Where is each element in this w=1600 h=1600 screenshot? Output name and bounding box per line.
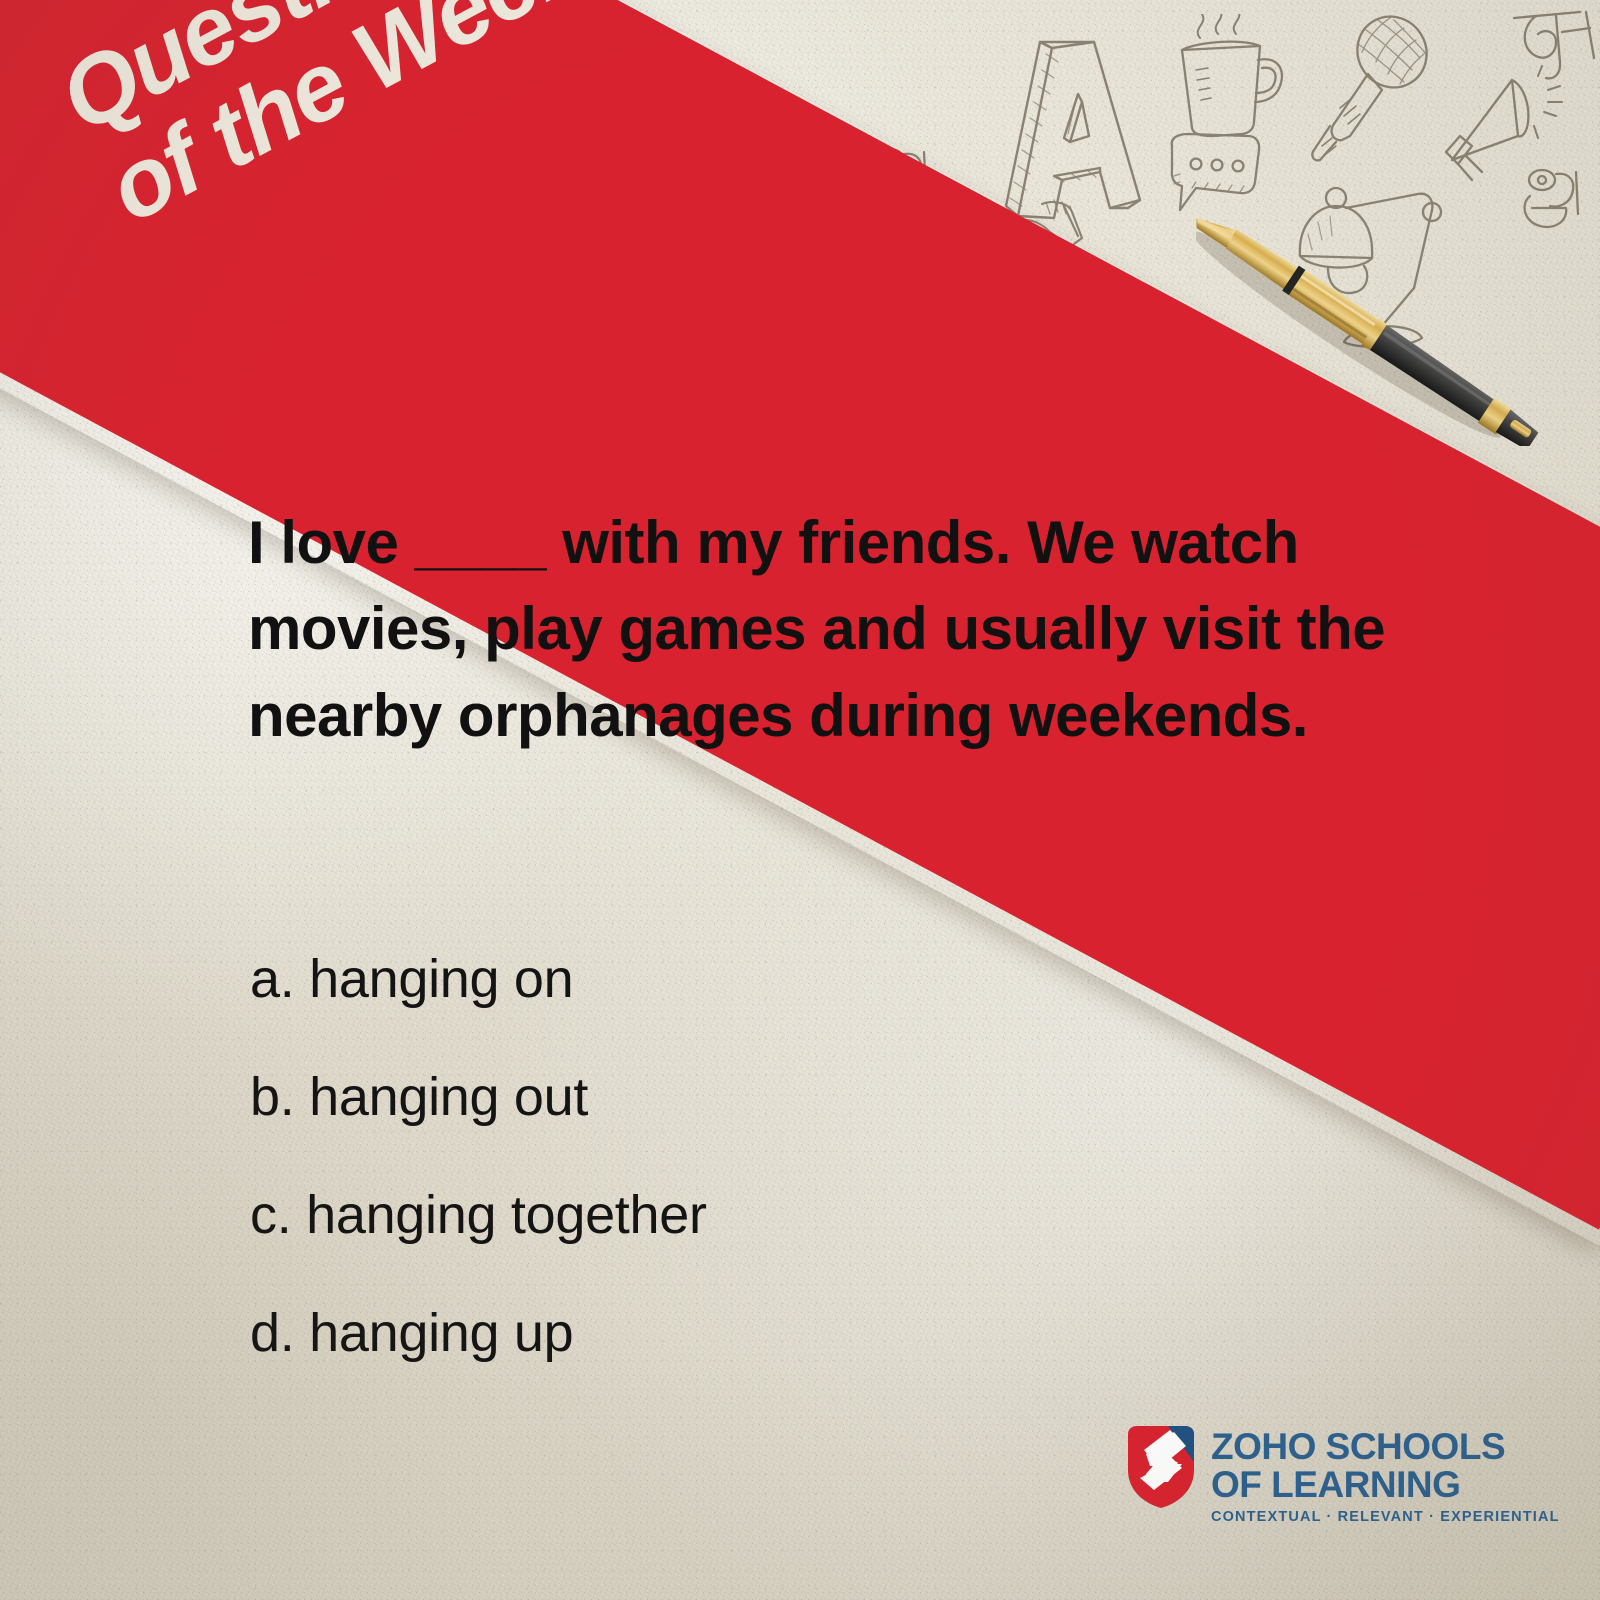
option-a[interactable]: a. hanging on (250, 920, 1250, 1038)
fountain-pen-icon (1196, 196, 1600, 451)
poster-canvas: Question of the Week (0, 0, 1600, 1600)
logo-line-2: OF LEARNING (1211, 1466, 1560, 1504)
option-b[interactable]: b. hanging out (250, 1038, 1250, 1156)
logo-line-1: ZOHO SCHOOLS (1211, 1428, 1560, 1466)
logo-tagline: CONTEXTUAL · RELEVANT · EXPERIENTIAL (1211, 1509, 1560, 1525)
answer-options-list: a. hanging on b. hanging out c. hanging … (250, 920, 1250, 1392)
logo-text-block: ZOHO SCHOOLS OF LEARNING CONTEXTUAL · RE… (1211, 1424, 1560, 1525)
option-c[interactable]: c. hanging together (250, 1156, 1250, 1274)
question-text: I love ____ with my friends. We watch mo… (248, 500, 1428, 759)
shield-icon (1124, 1424, 1198, 1510)
option-d[interactable]: d. hanging up (250, 1274, 1250, 1392)
zoho-schools-logo: ZOHO SCHOOLS OF LEARNING CONTEXTUAL · RE… (1124, 1424, 1560, 1525)
